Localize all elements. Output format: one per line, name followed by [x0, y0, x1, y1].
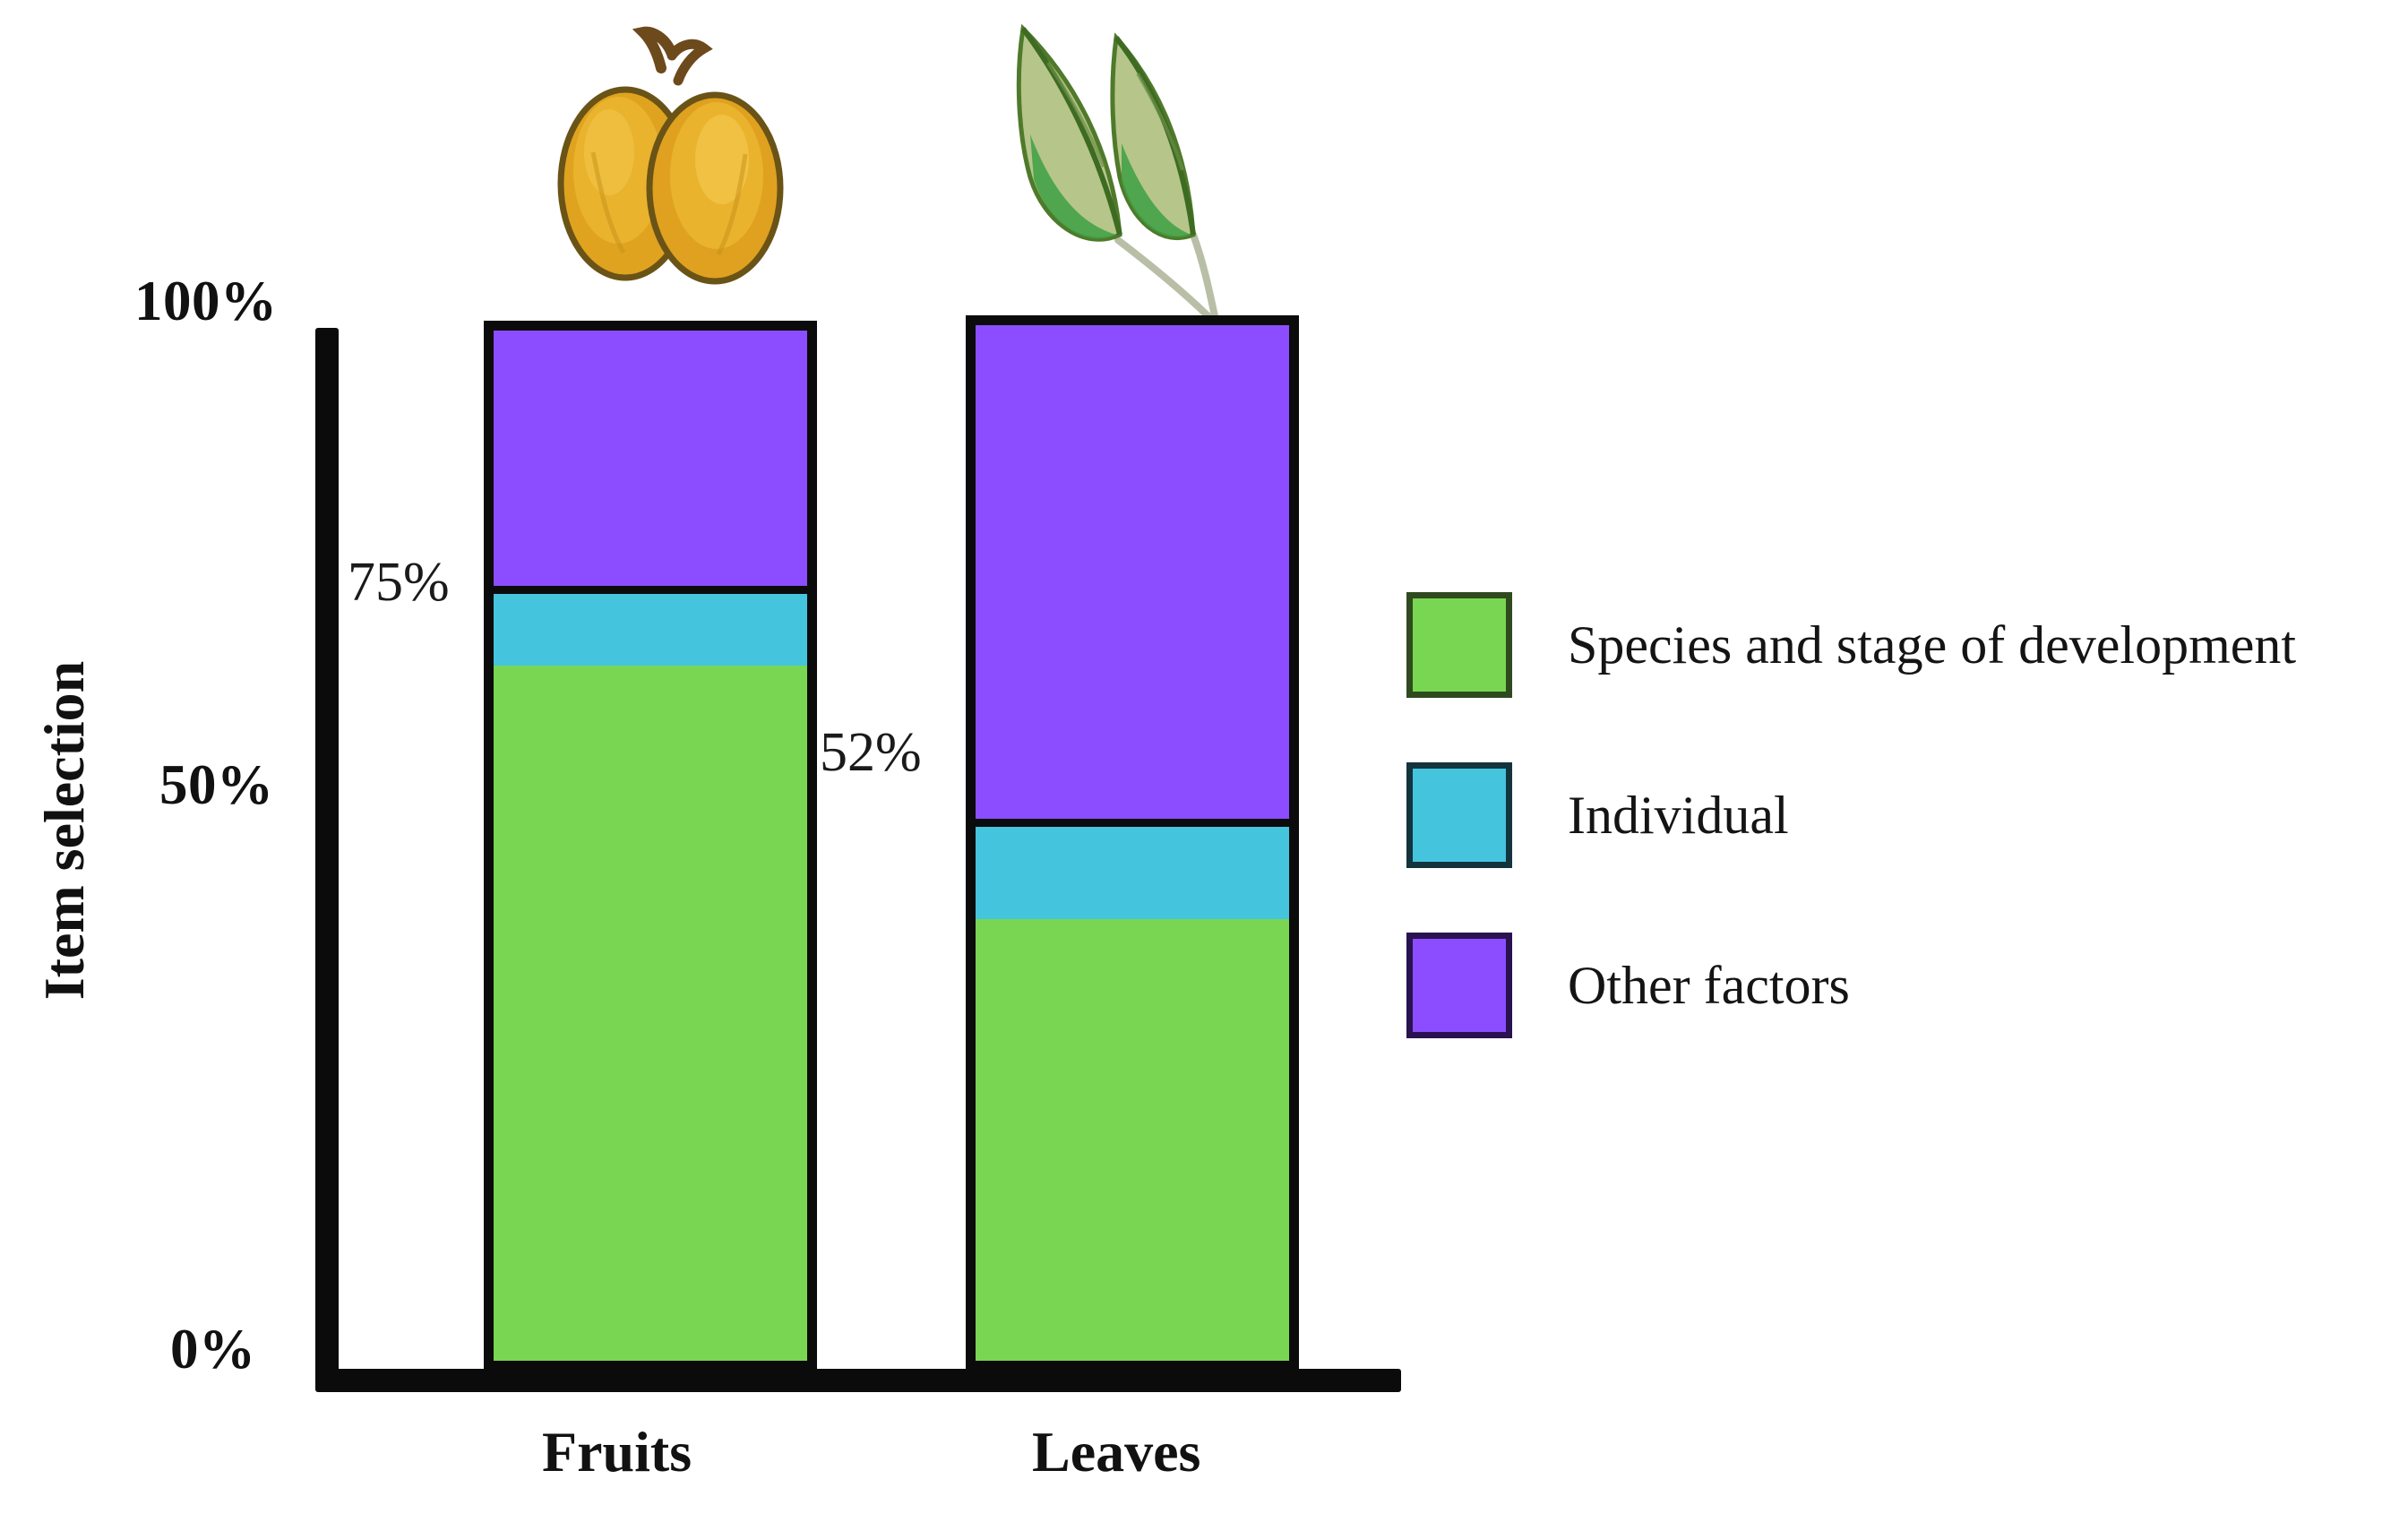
legend-label-other: Other factors	[1568, 955, 1850, 1017]
bar-leaves-segment-other[interactable]	[976, 325, 1289, 827]
x-label-leaves: Leaves	[1032, 1419, 1200, 1485]
y-axis-title: Item selection	[31, 606, 98, 1054]
annotation-leaves-percent: 52%	[820, 721, 922, 785]
y-axis-line	[315, 328, 339, 1378]
chart-legend: Species and stage of development Individ…	[1406, 591, 2296, 1102]
bar-fruits[interactable]	[484, 321, 817, 1371]
y-tick-100: 100%	[134, 269, 278, 334]
bar-fruits-segment-species[interactable]	[494, 666, 807, 1361]
legend-item-other[interactable]: Other factors	[1406, 932, 2296, 1039]
legend-item-species[interactable]: Species and stage of development	[1406, 591, 2296, 699]
legend-swatch-species	[1406, 592, 1512, 698]
bar-fruits-segment-other[interactable]	[494, 331, 807, 594]
bar-leaves-segment-individual[interactable]	[976, 827, 1289, 919]
legend-label-species: Species and stage of development	[1568, 615, 2296, 676]
annotation-fruits-percent: 75%	[348, 551, 450, 615]
fruit-pair-icon	[537, 18, 806, 314]
leaf-pair-icon	[985, 0, 1272, 327]
legend-swatch-individual	[1406, 762, 1512, 868]
bar-fruits-segment-individual[interactable]	[494, 594, 807, 666]
legend-label-individual: Individual	[1568, 785, 1789, 847]
legend-swatch-other	[1406, 933, 1512, 1038]
x-axis-line	[315, 1369, 1401, 1392]
bar-leaves[interactable]	[966, 315, 1299, 1371]
y-tick-0: 0%	[170, 1317, 256, 1382]
x-label-fruits: Fruits	[542, 1419, 692, 1485]
bar-leaves-segment-species[interactable]	[976, 919, 1289, 1361]
legend-item-individual[interactable]: Individual	[1406, 761, 2296, 869]
chart-figure: Item selection 100% 50% 0% 75% 52% Fruit…	[0, 0, 2408, 1522]
y-tick-50: 50%	[159, 752, 274, 818]
